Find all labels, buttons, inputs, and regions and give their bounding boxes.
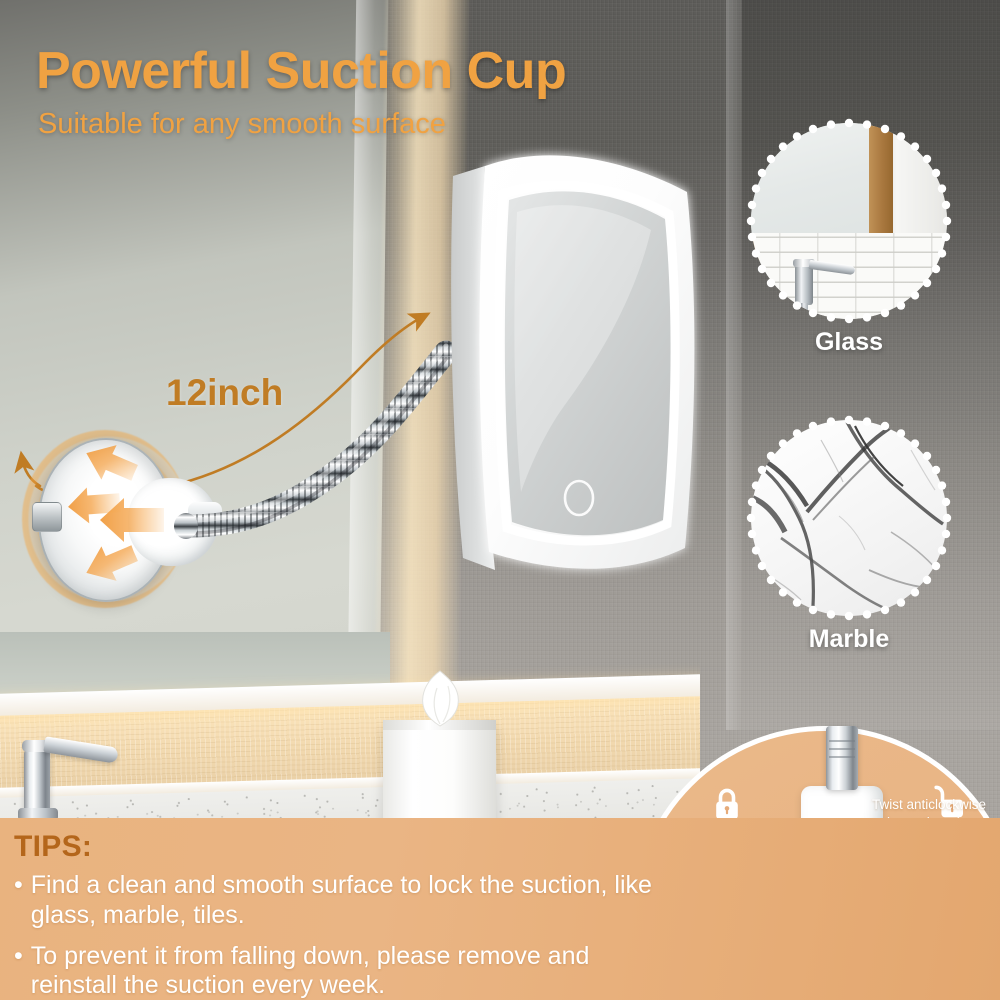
- tips-bullet-icon: •: [14, 871, 23, 931]
- tissue-paper-icon: [407, 668, 473, 728]
- page-title: Powerful Suction Cup: [36, 41, 566, 101]
- tips-panel: TIPS: • Find a clean and smooth surface …: [0, 818, 1000, 1000]
- lock-closed-icon: [712, 788, 742, 822]
- callout-glass: Glass: [751, 123, 947, 357]
- tips-bullet-icon: •: [14, 942, 23, 1000]
- suction-cup-chrome-stem: [826, 726, 858, 790]
- tips-item: • To prevent it from falling down, pleas…: [14, 942, 654, 1000]
- vanity-faucet-body: [24, 748, 50, 814]
- marble-surface-photo: [751, 420, 947, 616]
- wall-corner-seam: [726, 0, 742, 730]
- tips-item-text: Find a clean and smooth surface to lock …: [31, 871, 654, 931]
- page-subtitle: Suitable for any smooth surface: [38, 108, 446, 141]
- glass-surface-photo: [751, 123, 947, 319]
- twist-anticlockwise-line1: Twist anticlockwise: [872, 796, 1000, 814]
- callout-marble: Marble: [751, 420, 947, 654]
- tissue-box: [383, 724, 496, 822]
- led-mirror: [437, 140, 727, 580]
- tips-title: TIPS:: [14, 830, 92, 864]
- tips-item-text: To prevent it from falling down, please …: [31, 942, 654, 1000]
- marble-veins: [751, 420, 947, 616]
- product-marketing-image: Powerful Suction Cup Suitable for any sm…: [0, 0, 1000, 1000]
- callout-marble-label: Marble: [751, 625, 947, 654]
- callout-glass-label: Glass: [751, 328, 947, 357]
- tips-list: • Find a clean and smooth surface to loc…: [14, 871, 654, 1000]
- bathroom-vanity-scene: [0, 632, 700, 822]
- tips-item: • Find a clean and smooth surface to loc…: [14, 871, 654, 931]
